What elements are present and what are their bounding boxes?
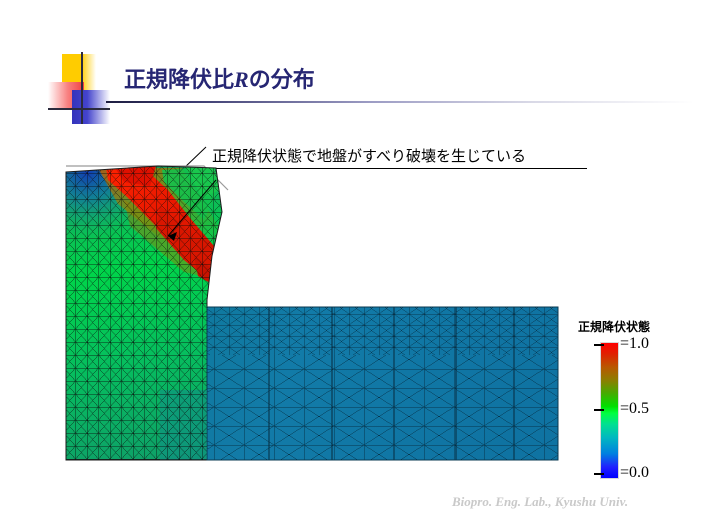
deco-horizontal-line (48, 108, 110, 110)
legend-title: 正規降伏状態 (578, 318, 650, 335)
page-title: 正規降伏比Rの分布 (124, 62, 315, 94)
colorbar-tick-3 (594, 473, 604, 475)
colorbar-tick-2 (594, 409, 604, 411)
footer-credit: Biopro. Eng. Lab., Kyushu Univ. (452, 494, 628, 510)
page-title-symbol: R (234, 67, 249, 92)
page-title-suffix: の分布 (249, 67, 315, 92)
colorbar-label-1: =1.0 (620, 335, 649, 353)
deco-vertical-line (81, 52, 83, 124)
deco-blue-square (72, 90, 110, 124)
embankment-teal-transition (160, 390, 210, 462)
page-title-prefix: 正規降伏比 (124, 67, 234, 92)
foundation-region (207, 307, 558, 460)
title-divider (106, 101, 694, 103)
colorbar-label-2: =0.5 (620, 400, 649, 418)
colorbar-label-3: =0.0 (620, 464, 649, 482)
colorbar-legend: 正規降伏状態 =1.0 =0.5 =0.0 (576, 318, 688, 484)
fem-contour-figure (64, 160, 560, 480)
slide-canvas: 正規降伏比Rの分布 正規降伏状態で地盤がすべり破壊を生じている (0, 0, 704, 527)
colorbar-tick-1 (594, 344, 604, 346)
title-decoration (48, 52, 110, 124)
